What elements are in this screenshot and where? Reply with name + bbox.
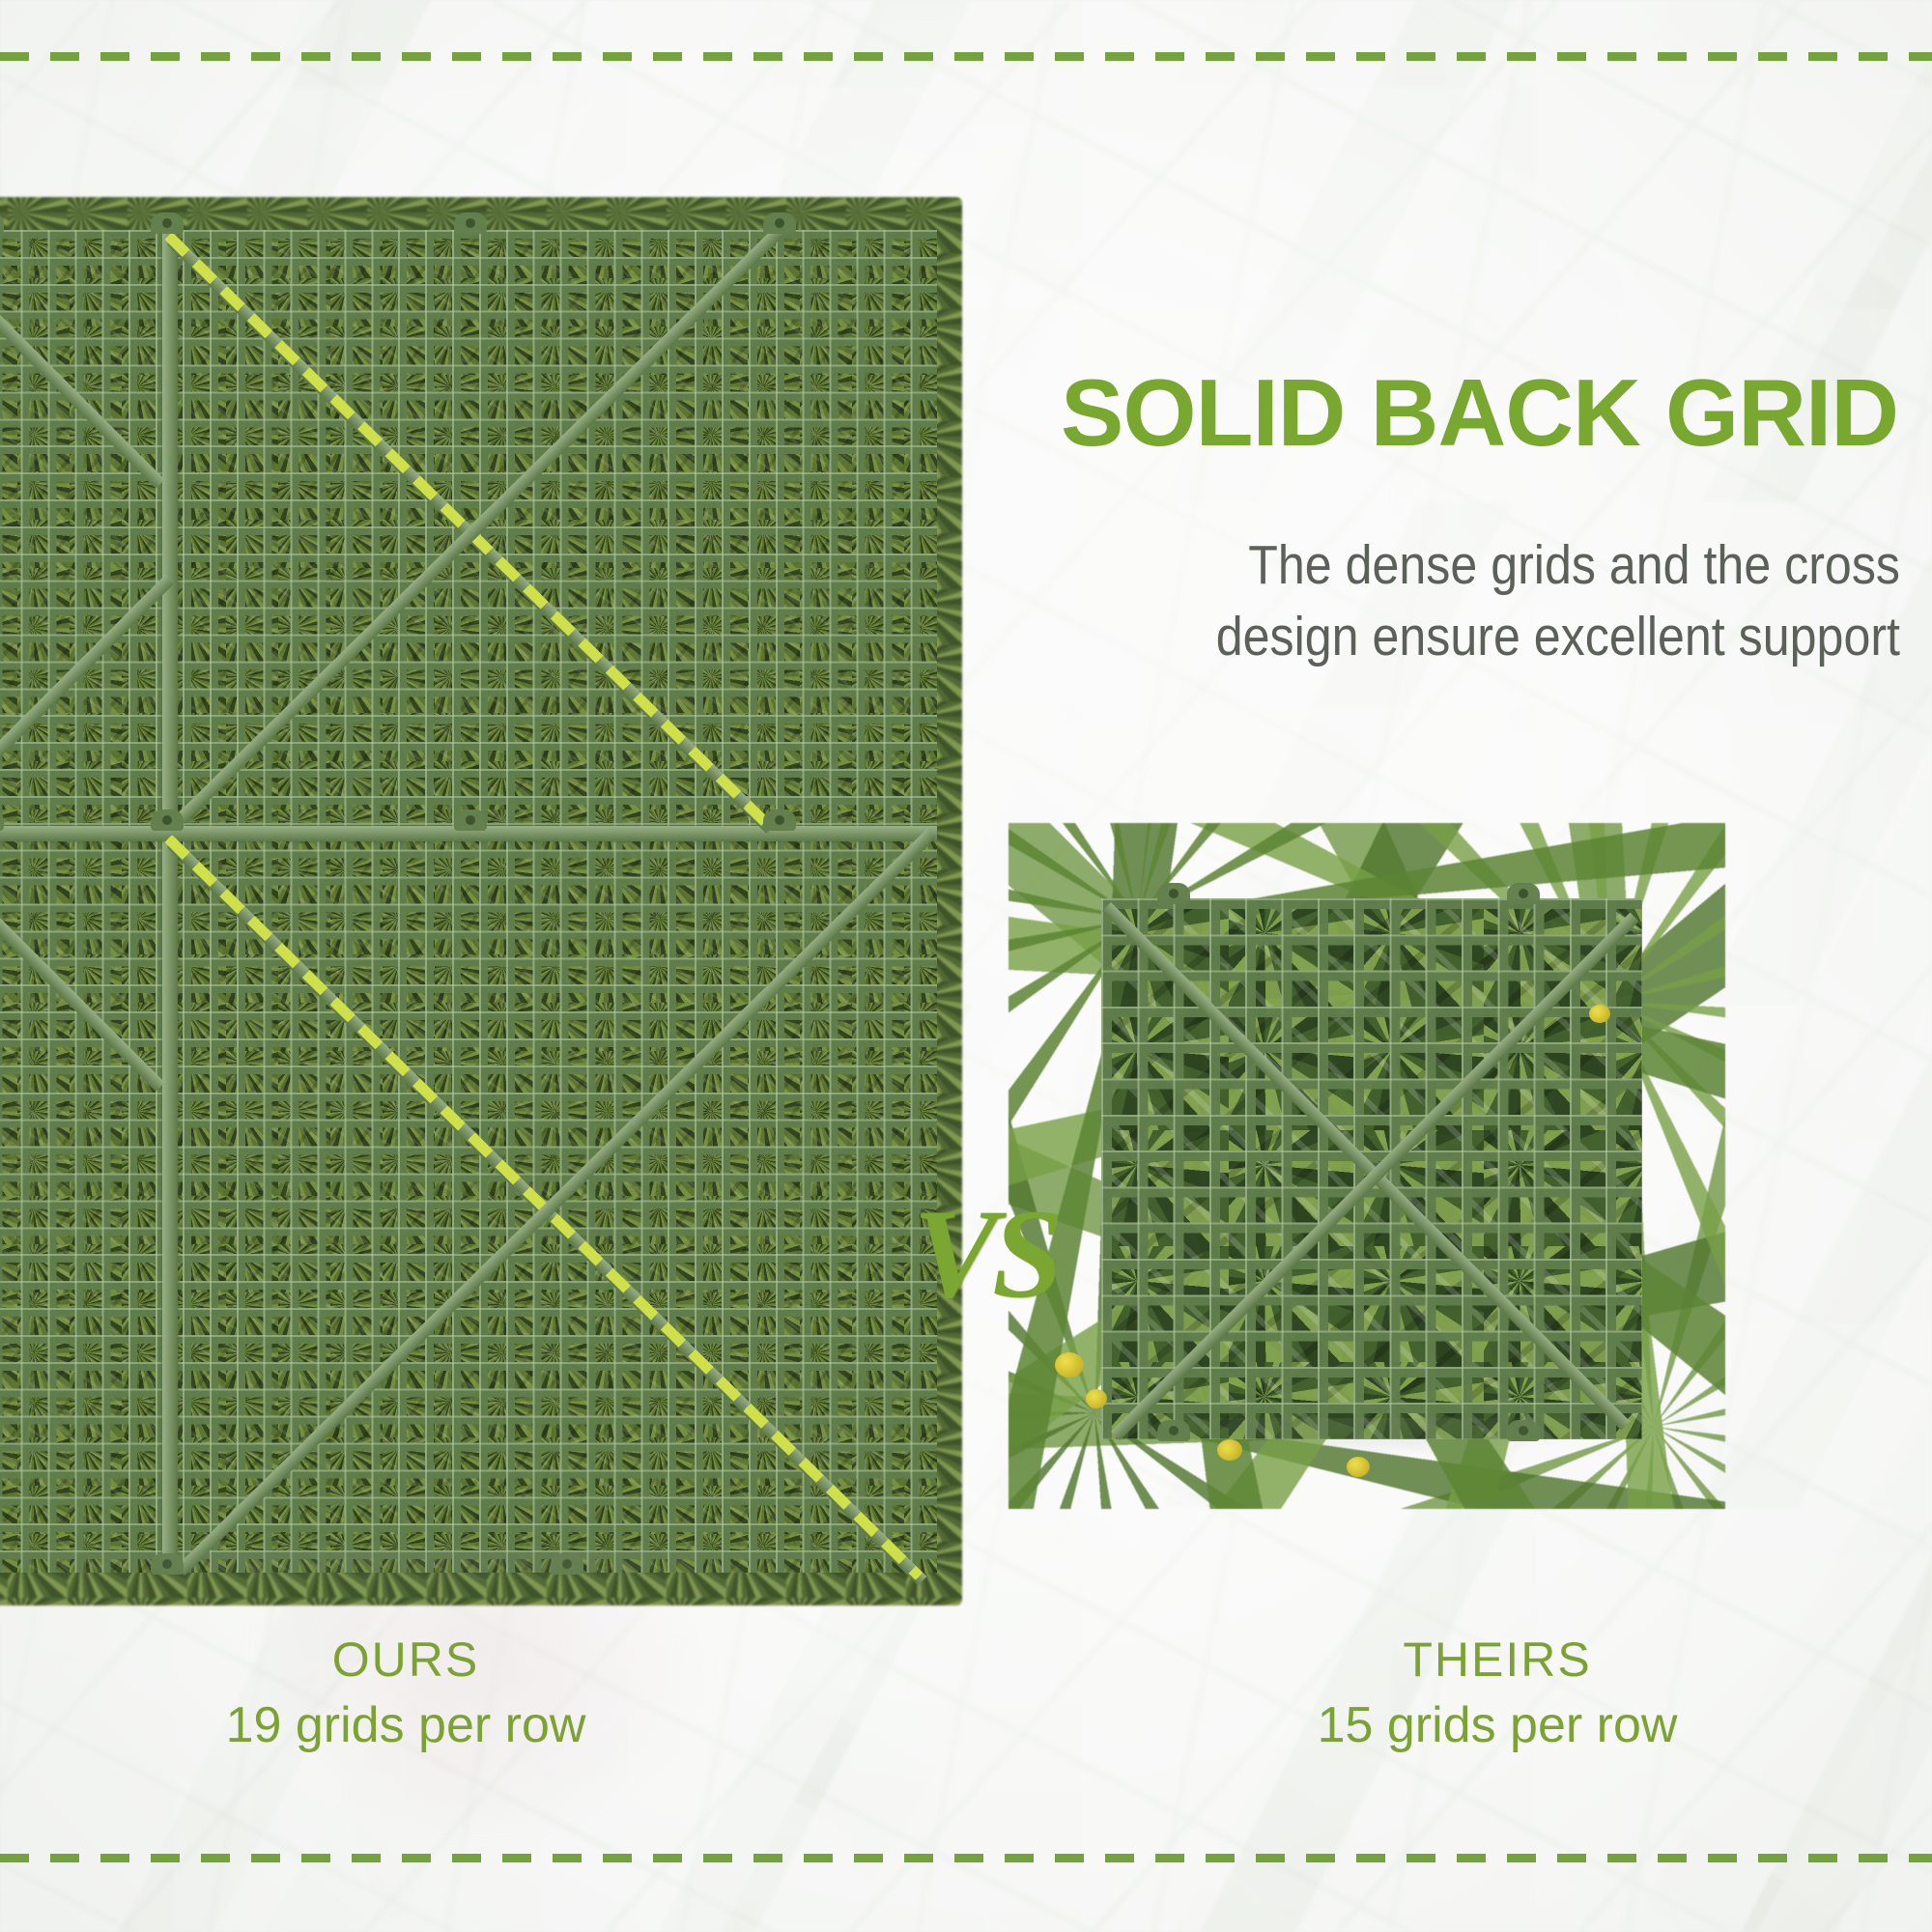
caption-ours-count: 19 grids per row: [58, 1694, 753, 1757]
caption-theirs-who: THEIRS: [1159, 1633, 1835, 1689]
plastic-grid-ours: [0, 230, 937, 1573]
yellow-flower-icon: [1086, 1389, 1107, 1408]
mount-tab-icon: [151, 213, 184, 234]
yellow-flower-icon: [1055, 1352, 1084, 1378]
caption-theirs: THEIRS 15 grids per row: [1159, 1633, 1835, 1757]
dashed-rule-bottom: [0, 1854, 1932, 1862]
caption-ours: OURS 19 grids per row: [58, 1633, 753, 1757]
mount-tab-icon: [454, 810, 487, 831]
versus-label: VS: [913, 1190, 1057, 1318]
caption-theirs-count: 15 grids per row: [1159, 1694, 1835, 1757]
page-title: SOLID BACK GRID: [956, 365, 1898, 460]
panel-shadow-theirs: [1101, 1418, 1642, 1457]
page-subtitle: The dense grids and the cross design ens…: [997, 529, 1900, 672]
panel-shadow-ours: [0, 1551, 937, 1590]
mount-tab-icon: [763, 810, 796, 831]
mount-tab-icon: [763, 213, 796, 234]
mount-tab-icon: [151, 810, 184, 831]
infographic-canvas: SOLID BACK GRID The dense grids and the …: [0, 0, 1932, 1932]
mount-tab-icon: [1157, 883, 1190, 904]
subtitle-line-1: The dense grids and the cross: [997, 529, 1900, 601]
subtitle-line-2: design ensure excellent support: [997, 601, 1900, 672]
grid-rib-vertical: [162, 230, 178, 1573]
product-panel-ours: [0, 230, 937, 1573]
yellow-flower-icon: [1347, 1457, 1370, 1477]
yellow-flower-icon: [1589, 1005, 1610, 1023]
mount-tab-icon: [1507, 883, 1540, 904]
caption-ours-who: OURS: [58, 1633, 753, 1689]
product-panel-theirs: [1101, 898, 1642, 1439]
mount-tab-icon: [454, 213, 487, 234]
dashed-rule-top: [0, 52, 1932, 61]
